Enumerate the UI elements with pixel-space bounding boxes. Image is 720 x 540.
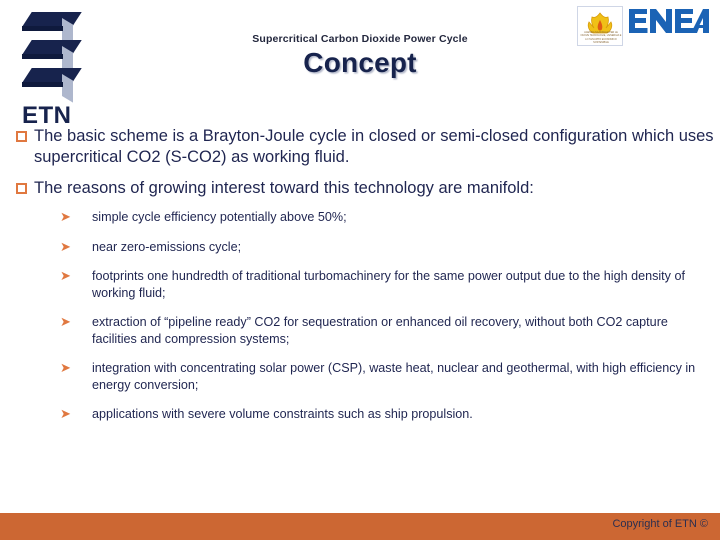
arrow-bullet-icon: ➤ xyxy=(60,408,71,422)
page-title: Concept xyxy=(130,47,590,79)
hollow-square-bullet-icon xyxy=(16,131,27,142)
arrow-bullet-icon: ➤ xyxy=(60,362,71,376)
etn-shelf-3 xyxy=(22,68,80,94)
enea-logo: AGENZIA NAZIONALE PER LE NUOVE TECNOLOGI… xyxy=(577,6,712,48)
list-item: ➤ near zero-emissions cycle; xyxy=(60,239,714,256)
list-item-text: applications with severe volume constrai… xyxy=(92,407,473,421)
shelf-front-face xyxy=(22,82,63,87)
bullet-item: The basic scheme is a Brayton-Joule cycl… xyxy=(14,126,714,168)
bullet-text: The reasons of growing interest toward t… xyxy=(34,179,534,197)
bullet-text: The basic scheme is a Brayton-Joule cycl… xyxy=(34,127,714,166)
list-item-text: integration with concentrating solar pow… xyxy=(92,361,695,392)
arrow-bullet-icon: ➤ xyxy=(60,211,71,225)
shelf-front-face xyxy=(22,26,63,31)
arrow-bullet-icon: ➤ xyxy=(60,241,71,255)
list-item-text: near zero-emissions cycle; xyxy=(92,240,241,254)
sub-bullet-list: ➤ simple cycle efficiency potentially ab… xyxy=(60,209,714,423)
arrow-bullet-icon: ➤ xyxy=(60,316,71,330)
list-item: ➤ integration with concentrating solar p… xyxy=(60,360,714,393)
hollow-square-bullet-icon xyxy=(16,183,27,194)
copyright-text: Copyright of ETN © xyxy=(612,518,708,530)
list-item: ➤ simple cycle efficiency potentially ab… xyxy=(60,209,714,226)
list-item: ➤ extraction of “pipeline ready” CO2 for… xyxy=(60,314,714,347)
footer-bar: Copyright of ETN © xyxy=(0,513,720,540)
slide-body: The basic scheme is a Brayton-Joule cycl… xyxy=(14,126,714,436)
slide-canvas: ETN AGENZIA NAZIONALE PER LE NUOVE TECNO… xyxy=(0,0,720,540)
etn-shelf-1 xyxy=(22,12,80,38)
etn-logo: ETN xyxy=(22,12,100,124)
arrow-bullet-icon: ➤ xyxy=(60,270,71,284)
list-item: ➤ footprints one hundredth of traditiona… xyxy=(60,268,714,301)
title-block: Supercritical Carbon Dioxide Power Cycle… xyxy=(130,33,590,79)
list-item-text: extraction of “pipeline ready” CO2 for s… xyxy=(92,315,668,346)
list-item: ➤ applications with severe volume constr… xyxy=(60,406,714,423)
bullet-item: The reasons of growing interest toward t… xyxy=(14,178,714,199)
etn-shelf-2 xyxy=(22,40,80,66)
enea-wordmark xyxy=(628,8,712,34)
etn-stacked-shelves-icon xyxy=(22,12,92,98)
list-item-text: simple cycle efficiency potentially abov… xyxy=(92,210,347,224)
list-item-text: footprints one hundredth of traditional … xyxy=(92,269,685,300)
slide-subtitle: Supercritical Carbon Dioxide Power Cycle xyxy=(130,33,590,45)
shelf-front-face xyxy=(22,54,63,59)
